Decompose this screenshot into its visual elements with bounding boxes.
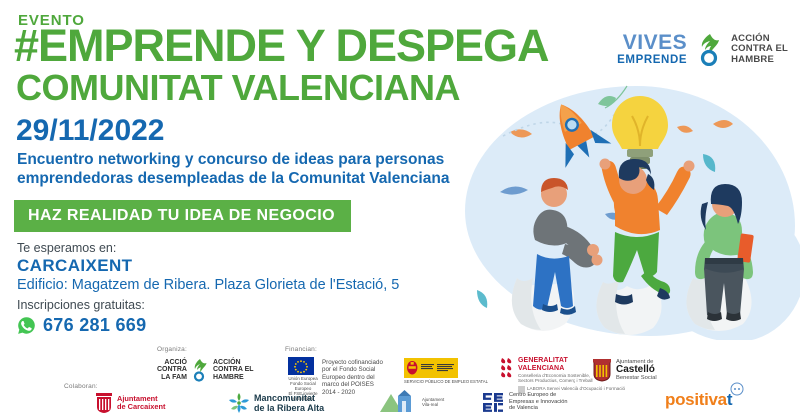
sepe-text: SERVICIO PÚBLICO DE EMPLEO ESTATAL: [404, 379, 488, 384]
page-subtitle: COMUNITAT VALENCIANA: [16, 70, 460, 106]
location-intro: Te esperamos en:: [17, 241, 399, 255]
registration-block: Inscripciones gratuitas: 676 281 669: [17, 298, 146, 336]
vives-emprende-logo: VIVES EMPRENDE: [617, 32, 687, 67]
eggshell: [596, 280, 661, 335]
spain-government-flag-icon: [404, 358, 458, 378]
speech-bubble-icon: [729, 382, 745, 398]
lightbulb-icon: [612, 96, 668, 169]
person-left: [533, 178, 603, 315]
acf-cat-2: CONTRA: [157, 366, 187, 374]
event-date: 29/11/2022: [16, 114, 165, 148]
page-title: #EMPRENDE Y DESPEGA: [14, 26, 549, 66]
acf-cat-1: ACCIÓ: [157, 359, 187, 367]
phone-row[interactable]: 676 281 669: [17, 315, 146, 336]
leaf-icon: [598, 96, 616, 106]
location-venue: Edificio: Magatzem de Ribera. Plaza Glor…: [17, 276, 399, 295]
logo-mancomunitat-ribera-alta: Mancomunitat de la Ribera Alta: [228, 392, 324, 414]
location-block: Te esperamos en: CARCAIXENT Edificio: Ma…: [17, 241, 399, 295]
sponsor-footer: Organiza: ACCIÓ CONTRA LA FAM ACCIÓN CON…: [0, 340, 800, 418]
castello-line-3: Benestar Social: [616, 375, 657, 381]
acf-es-1: ACCIÓN: [213, 359, 254, 367]
logo-accion-contra-la-fam: ACCIÓ CONTRA LA FAM ACCIÓN CONTRA EL HAM…: [157, 358, 254, 382]
logo-ajuntament-vila-real: Ajuntament Vila-real: [378, 390, 444, 414]
carcaixent-line-2: de Carcaixent: [117, 403, 165, 411]
mancomunitat-mark-icon: [228, 392, 250, 414]
eu-funding-text: Proyecto cofinanciado por el Fondo Socia…: [322, 359, 384, 396]
mancomunitat-line-2: de la Ribera Alta: [254, 403, 324, 413]
whatsapp-icon: [17, 316, 36, 335]
acf-cat-3: LA FAM: [157, 374, 187, 382]
logo-ajuntament-carcaixent: Ajuntament de Carcaixent: [95, 392, 165, 414]
generalitat-mark-icon: [500, 357, 514, 379]
accion-hambre-mark-icon: [190, 358, 210, 382]
logo-ceei-valencia: Centro Europeo de Empresas e Innovación …: [483, 392, 567, 412]
accion-line-3: HAMBRE: [731, 55, 788, 66]
eu-caption-2: Fondo Social Europeo: [288, 381, 318, 391]
logo-positivat: positivat: [665, 390, 732, 410]
colaboran-label: Colaboran:: [64, 383, 98, 390]
ceei-line-2: Empresas e Innovación: [509, 399, 567, 406]
organiza-label: Organiza:: [157, 346, 187, 353]
brand-lockup: VIVES EMPRENDE ACCIÓN CONTRA EL HAMBRE: [617, 32, 788, 67]
ceei-line-1: Centro Europeo de: [509, 392, 567, 399]
accion-hambre-text: ACCIÓN CONTRA EL HAMBRE: [731, 34, 788, 66]
illustration: [455, 82, 800, 344]
acf-es-2: CONTRA EL: [213, 366, 254, 374]
ceei-mark-icon: [483, 392, 505, 412]
accion-line-2: CONTRA EL: [731, 44, 788, 55]
emprende-word: EMPRENDE: [617, 55, 687, 67]
logo-ajuntament-castello: Ajuntament de Castelló Benestar Social: [592, 358, 657, 382]
gv-sub-3: LABORA Servei Valencià d'Ocupació i Form…: [527, 386, 625, 391]
event-description: Encuentro networking y concurso de ideas…: [17, 150, 457, 188]
cta-banner: HAZ REALIDAD TU IDEA DE NEGOCIO: [14, 200, 351, 232]
phone-number: 676 281 669: [43, 315, 146, 336]
carcaixent-crest-icon: [95, 392, 113, 414]
accion-contra-el-hambre-logo: ACCIÓN CONTRA EL HAMBRE: [693, 32, 788, 66]
positivat-name-a: positiva: [665, 390, 727, 409]
vives-word: VIVES: [623, 32, 687, 53]
acf-es-3: HAMBRE: [213, 374, 254, 382]
castello-crest-icon: [592, 358, 612, 382]
financian-label: Financian:: [285, 346, 317, 353]
circle-mark-icon: [703, 52, 716, 65]
mancomunitat-line-1: Mancomunitat: [254, 393, 324, 403]
event-poster: EVENTO #EMPRENDE Y DESPEGA COMUNITAT VAL…: [0, 0, 800, 418]
eu-flag-icon: [288, 357, 314, 375]
vila-real-mark-icon: [378, 390, 418, 414]
location-city: CARCAIXENT: [17, 255, 399, 276]
vilareal-line-2: Vila-real: [422, 402, 444, 407]
accion-hambre-mark-icon: [693, 32, 727, 66]
registration-intro: Inscripciones gratuitas:: [17, 298, 146, 312]
castello-line-2: Castelló: [616, 365, 657, 376]
logo-gobierno-espana: SERVICIO PÚBLICO DE EMPLEO ESTATAL: [404, 358, 488, 384]
ceei-line-3: de Valencia: [509, 405, 567, 412]
